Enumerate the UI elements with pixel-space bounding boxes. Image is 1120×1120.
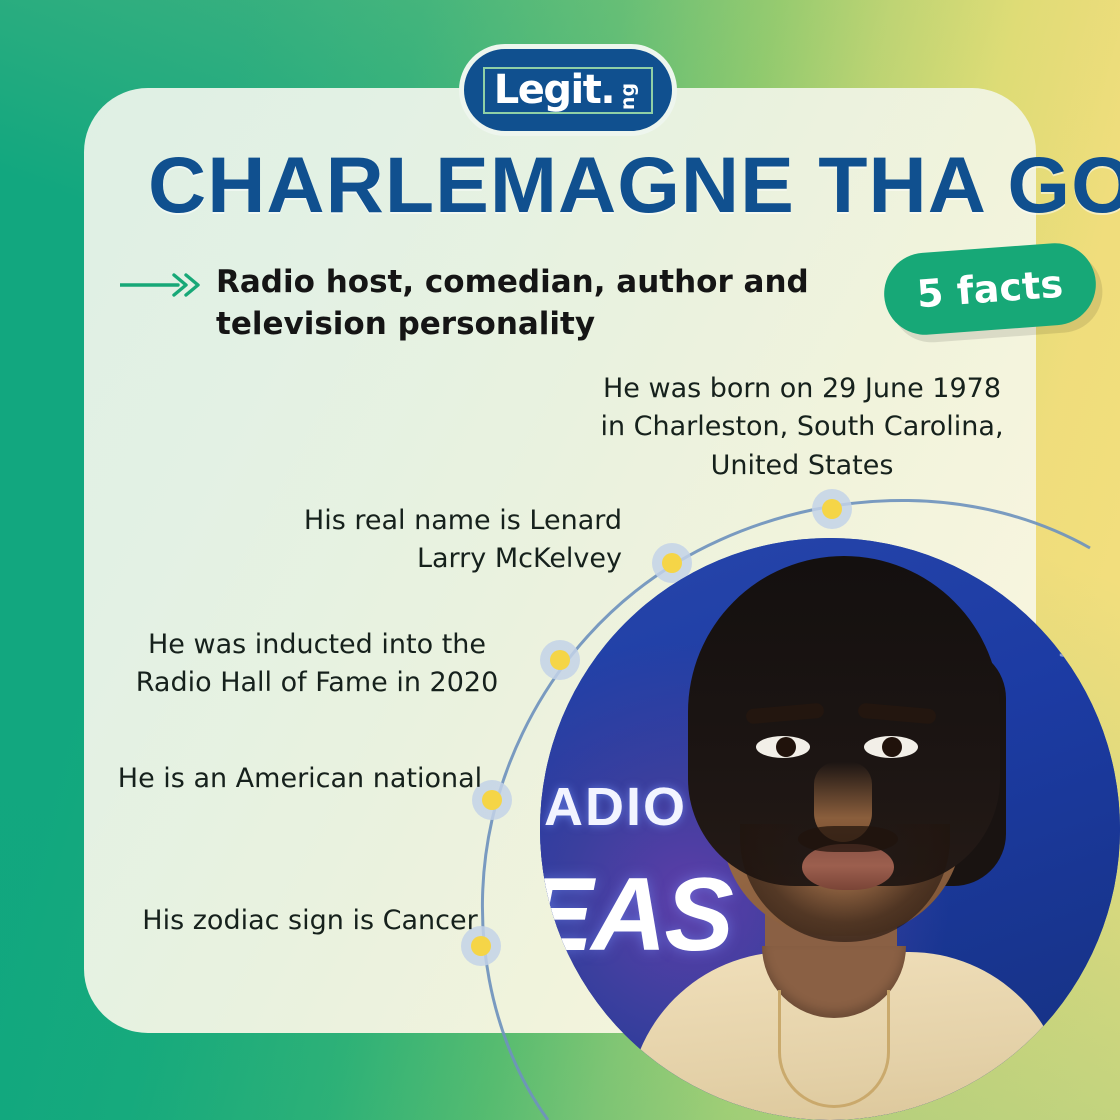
legit-logo[interactable]: Legit. ng xyxy=(459,44,677,136)
pupil-left xyxy=(776,737,796,757)
fact-item-nationality: He is an American national xyxy=(112,760,488,798)
logo-domain-suffix: ng xyxy=(619,82,638,109)
person-figure xyxy=(540,538,1120,1120)
fact-item-zodiac: His zodiac sign is Cancer xyxy=(122,902,498,940)
facts-count-label: 5 facts xyxy=(915,262,1064,317)
fact-item-hall-of-fame: He was inducted into the Radio Hall of F… xyxy=(112,626,522,703)
facts-count-badge: 5 facts xyxy=(881,240,1098,337)
logo-wordmark: Legit. xyxy=(494,71,614,109)
pupil-right xyxy=(882,737,902,757)
logo-frame: Legit. ng xyxy=(483,67,653,114)
page-title: CHARLEMAGNE THA GOD xyxy=(148,145,923,224)
page-subtitle: Radio host, comedian, author and televis… xyxy=(216,262,876,346)
arrow-right-icon xyxy=(120,272,202,298)
infographic-poster: 9c ADIO EAS Legit. ng xyxy=(0,0,1120,1120)
mustache-shape xyxy=(798,826,898,852)
fact-item-birth: He was born on 29 June 1978 in Charlesto… xyxy=(600,370,1004,485)
portrait-photo: 9c ADIO EAS xyxy=(540,538,1120,1120)
necklace-chain xyxy=(778,990,890,1108)
